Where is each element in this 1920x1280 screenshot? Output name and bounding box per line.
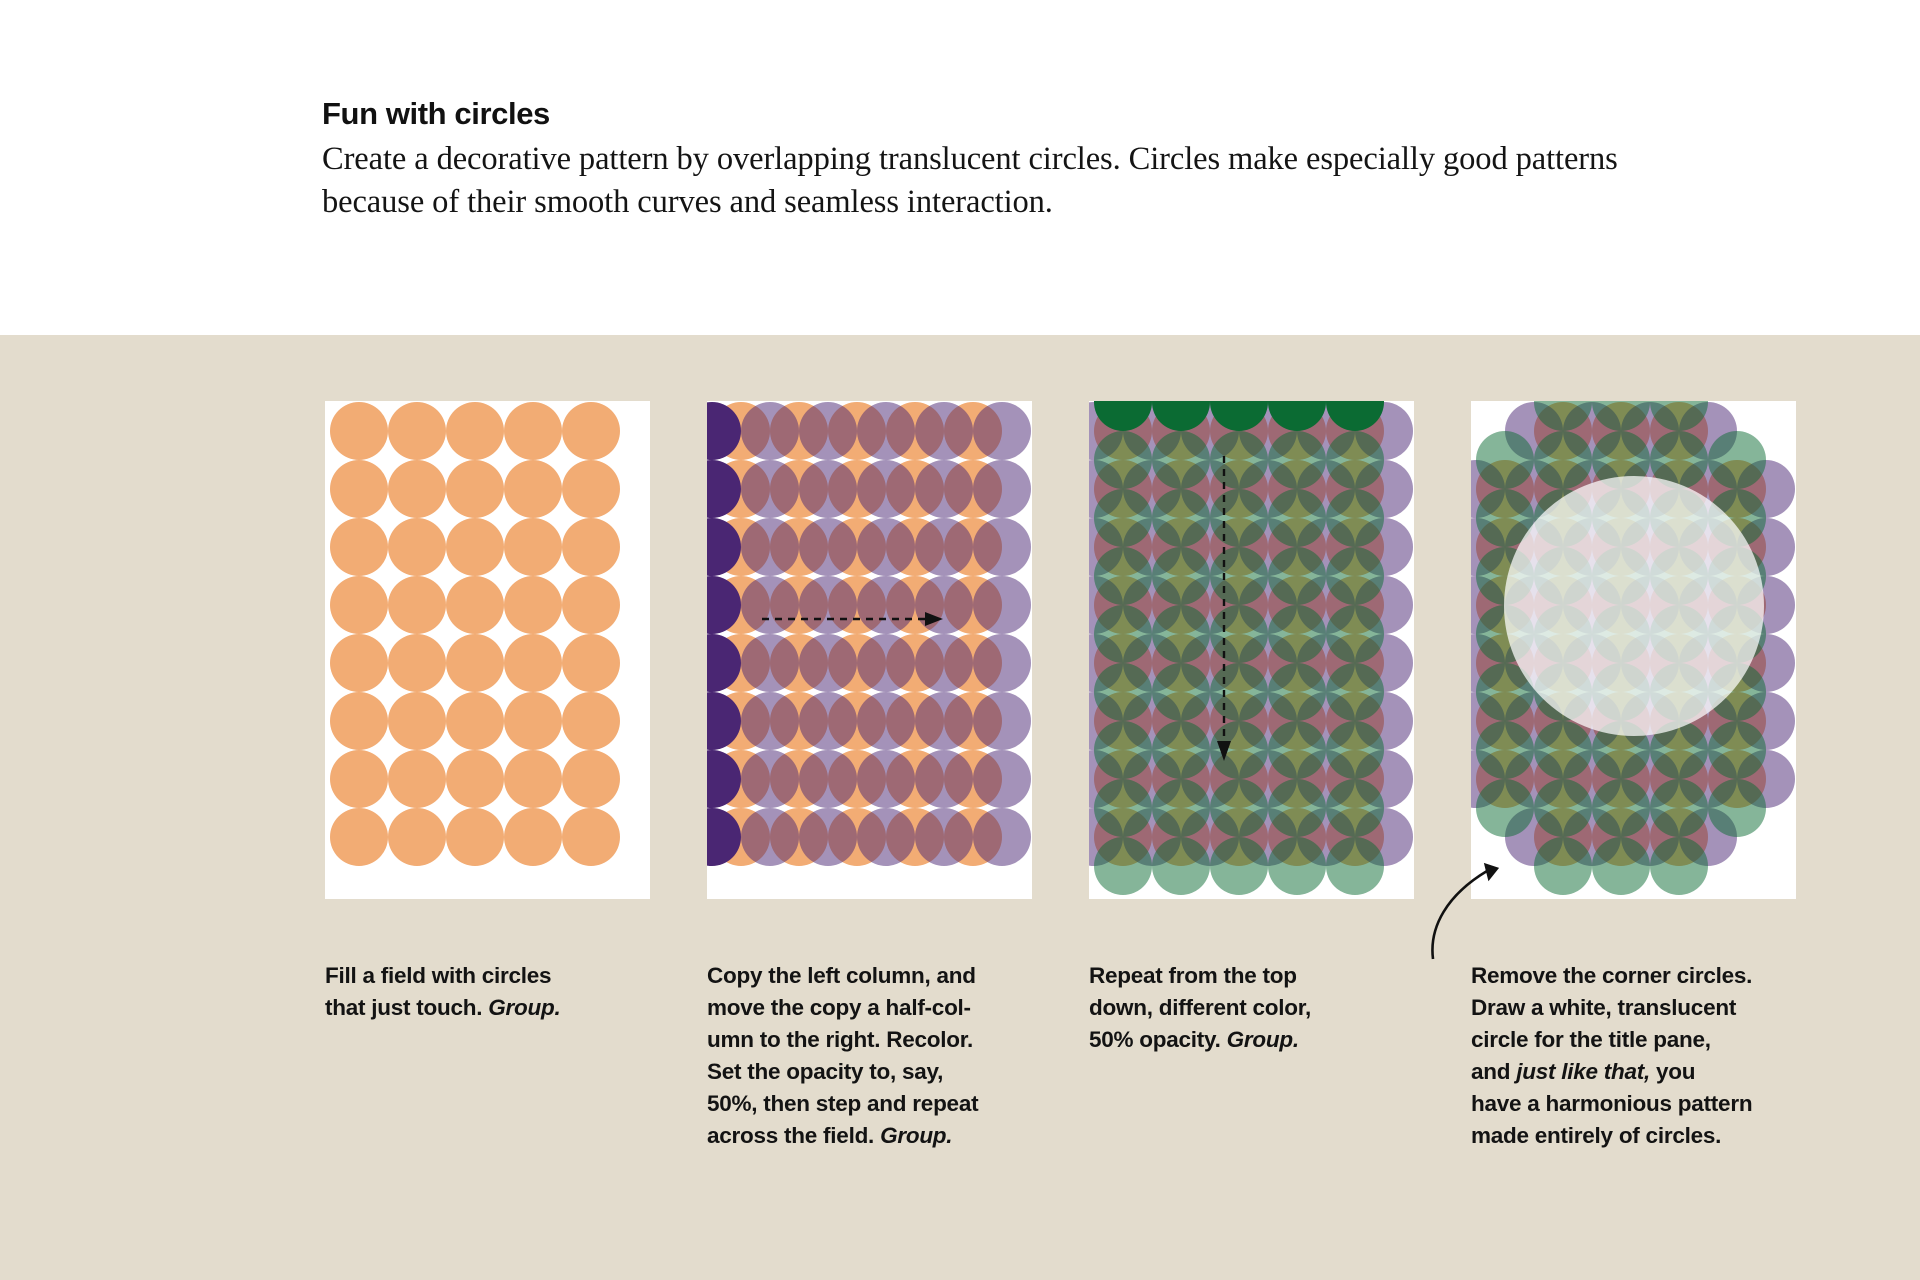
green-translucent-circle bbox=[1210, 431, 1268, 489]
green-translucent-circle bbox=[1476, 721, 1534, 779]
green-translucent-circle bbox=[1326, 779, 1384, 837]
purple-translucent-circle bbox=[973, 402, 1031, 460]
green-translucent-circle bbox=[1210, 837, 1268, 895]
orange-circle bbox=[562, 692, 620, 750]
purple-translucent-circle bbox=[857, 460, 915, 518]
green-translucent-circle bbox=[1268, 663, 1326, 721]
caption-segment: just like that, bbox=[1516, 1059, 1650, 1084]
purple-translucent-circle bbox=[915, 634, 973, 692]
green-translucent-circle bbox=[1534, 779, 1592, 837]
green-translucent-circle bbox=[1094, 721, 1152, 779]
caption-segment: down, different color, bbox=[1089, 995, 1311, 1020]
purple-translucent-circle bbox=[741, 750, 799, 808]
purple-translucent-circle bbox=[741, 692, 799, 750]
green-translucent-circle bbox=[1326, 663, 1384, 721]
caption-segment: move the copy a half-col- bbox=[707, 995, 971, 1020]
green-translucent-circle bbox=[1326, 431, 1384, 489]
caption-segment: made entirely of circles. bbox=[1471, 1123, 1721, 1148]
orange-circle bbox=[330, 634, 388, 692]
caption-segment: 50% opacity. bbox=[1089, 1027, 1227, 1052]
step-2-panel bbox=[707, 401, 1032, 899]
orange-circle bbox=[504, 402, 562, 460]
orange-circle bbox=[446, 750, 504, 808]
green-translucent-circle bbox=[1152, 605, 1210, 663]
green-translucent-circle bbox=[1152, 779, 1210, 837]
orange-circle bbox=[446, 808, 504, 866]
caption-segment: 50%, then step and repeat bbox=[707, 1091, 978, 1116]
step-4-caption: Remove the corner circles.Draw a white, … bbox=[1471, 960, 1831, 1152]
header-text-block: Fun with circles Create a decorative pat… bbox=[322, 96, 1742, 223]
purple-translucent-circle bbox=[799, 402, 857, 460]
caption-segment: Repeat from the top bbox=[1089, 963, 1297, 988]
green-translucent-circle bbox=[1152, 663, 1210, 721]
step-1-panel bbox=[325, 401, 650, 899]
caption-segment: Set the opacity to, say, bbox=[707, 1059, 943, 1084]
purple-translucent-circle bbox=[741, 576, 799, 634]
caption-segment: Group. bbox=[1227, 1027, 1299, 1052]
orange-circle bbox=[446, 634, 504, 692]
white-title-circle bbox=[1504, 476, 1764, 736]
green-translucent-circle bbox=[1326, 605, 1384, 663]
step-3-circle-grid bbox=[1089, 401, 1414, 899]
green-translucent-circle bbox=[1268, 431, 1326, 489]
orange-circle bbox=[330, 808, 388, 866]
orange-circle bbox=[446, 402, 504, 460]
purple-translucent-circle bbox=[973, 750, 1031, 808]
green-translucent-circle bbox=[1476, 431, 1534, 489]
green-translucent-circle bbox=[1268, 605, 1326, 663]
step-3-panel bbox=[1089, 401, 1414, 899]
step-1-caption: Fill a field with circlesthat just touch… bbox=[325, 960, 645, 1024]
purple-translucent-circle bbox=[741, 518, 799, 576]
purple-translucent-circle bbox=[799, 634, 857, 692]
orange-circle bbox=[388, 808, 446, 866]
green-translucent-circle bbox=[1094, 779, 1152, 837]
purple-translucent-circle bbox=[741, 402, 799, 460]
orange-circle bbox=[562, 518, 620, 576]
green-translucent-circle bbox=[1534, 721, 1592, 779]
green-translucent-circle bbox=[1268, 547, 1326, 605]
page-root: Fun with circles Create a decorative pat… bbox=[0, 0, 1920, 1280]
orange-circle bbox=[446, 518, 504, 576]
green-translucent-circle bbox=[1268, 721, 1326, 779]
green-translucent-circle bbox=[1210, 721, 1268, 779]
green-translucent-circle bbox=[1094, 837, 1152, 895]
green-translucent-circle bbox=[1592, 779, 1650, 837]
caption-segment: Remove the corner circles. bbox=[1471, 963, 1752, 988]
green-translucent-circle bbox=[1094, 605, 1152, 663]
green-translucent-circle bbox=[1152, 431, 1210, 489]
purple-translucent-circle bbox=[741, 808, 799, 866]
orange-circle bbox=[388, 692, 446, 750]
orange-circle bbox=[504, 808, 562, 866]
orange-circle bbox=[562, 576, 620, 634]
purple-translucent-circle bbox=[857, 518, 915, 576]
orange-circle bbox=[330, 576, 388, 634]
caption-segment: Fill a field with circles bbox=[325, 963, 551, 988]
caption-segment: Group. bbox=[488, 995, 560, 1020]
caption-segment: and bbox=[1471, 1059, 1516, 1084]
orange-circle bbox=[388, 518, 446, 576]
green-translucent-circle bbox=[1592, 837, 1650, 895]
purple-translucent-circle bbox=[857, 576, 915, 634]
green-translucent-circle bbox=[1476, 779, 1534, 837]
orange-circle bbox=[504, 634, 562, 692]
purple-translucent-circle bbox=[799, 750, 857, 808]
orange-circle bbox=[562, 402, 620, 460]
green-translucent-circle bbox=[1268, 779, 1326, 837]
orange-circle bbox=[388, 576, 446, 634]
green-translucent-circle bbox=[1152, 837, 1210, 895]
green-translucent-circle bbox=[1094, 489, 1152, 547]
caption-segment: that just touch. bbox=[325, 995, 488, 1020]
purple-translucent-circle bbox=[799, 460, 857, 518]
step-3-figure bbox=[1089, 401, 1414, 899]
green-translucent-circle bbox=[1650, 779, 1708, 837]
step-4-circle-grid bbox=[1471, 401, 1796, 899]
purple-translucent-circle bbox=[973, 692, 1031, 750]
purple-translucent-circle bbox=[857, 634, 915, 692]
orange-circle bbox=[504, 576, 562, 634]
green-translucent-circle bbox=[1152, 547, 1210, 605]
orange-circle bbox=[446, 692, 504, 750]
caption-segment: umn to the right. Recolor. bbox=[707, 1027, 973, 1052]
purple-translucent-circle bbox=[857, 750, 915, 808]
purple-translucent-circle bbox=[915, 460, 973, 518]
step-2-figure bbox=[707, 401, 1032, 899]
orange-circle bbox=[388, 634, 446, 692]
green-translucent-circle bbox=[1268, 489, 1326, 547]
purple-translucent-circle bbox=[857, 692, 915, 750]
orange-circle bbox=[504, 750, 562, 808]
purple-translucent-circle bbox=[973, 460, 1031, 518]
step-1-circle-grid bbox=[325, 401, 650, 899]
green-translucent-circle bbox=[1326, 489, 1384, 547]
purple-translucent-circle bbox=[915, 402, 973, 460]
green-translucent-circle bbox=[1094, 663, 1152, 721]
orange-circle bbox=[446, 576, 504, 634]
purple-translucent-circle bbox=[915, 692, 973, 750]
purple-translucent-circle bbox=[915, 750, 973, 808]
purple-translucent-circle bbox=[973, 518, 1031, 576]
step-2-caption: Copy the left column, andmove the copy a… bbox=[707, 960, 1052, 1152]
orange-circle bbox=[562, 634, 620, 692]
orange-circle bbox=[330, 460, 388, 518]
green-translucent-circle bbox=[1534, 431, 1592, 489]
orange-circle bbox=[446, 460, 504, 518]
step-4-figure bbox=[1471, 401, 1796, 899]
purple-translucent-circle bbox=[857, 808, 915, 866]
purple-translucent-circle bbox=[915, 808, 973, 866]
orange-circle bbox=[330, 518, 388, 576]
orange-circle bbox=[562, 808, 620, 866]
caption-segment: you bbox=[1650, 1059, 1695, 1084]
green-translucent-circle bbox=[1152, 489, 1210, 547]
caption-segment: Group. bbox=[880, 1123, 952, 1148]
green-translucent-circle bbox=[1210, 605, 1268, 663]
header-band: Fun with circles Create a decorative pat… bbox=[0, 0, 1920, 335]
step-4-panel bbox=[1471, 401, 1796, 899]
caption-segment: circle for the title pane, bbox=[1471, 1027, 1711, 1052]
caption-segment: have a harmonious pattern bbox=[1471, 1091, 1752, 1116]
green-translucent-circle bbox=[1210, 547, 1268, 605]
green-translucent-circle bbox=[1534, 837, 1592, 895]
green-translucent-circle bbox=[1094, 547, 1152, 605]
green-translucent-circle bbox=[1326, 721, 1384, 779]
page-title: Fun with circles bbox=[322, 96, 1742, 132]
purple-translucent-circle bbox=[973, 634, 1031, 692]
green-translucent-circle bbox=[1326, 547, 1384, 605]
orange-circle bbox=[330, 750, 388, 808]
orange-circle bbox=[330, 692, 388, 750]
orange-circle bbox=[504, 518, 562, 576]
purple-translucent-circle bbox=[799, 692, 857, 750]
purple-translucent-circle bbox=[973, 576, 1031, 634]
green-translucent-circle bbox=[1708, 721, 1766, 779]
green-translucent-circle bbox=[1210, 489, 1268, 547]
green-translucent-circle bbox=[1650, 837, 1708, 895]
purple-translucent-circle bbox=[741, 460, 799, 518]
caption-segment: Copy the left column, and bbox=[707, 963, 976, 988]
purple-translucent-circle bbox=[799, 576, 857, 634]
purple-translucent-circle bbox=[973, 808, 1031, 866]
step-1-figure bbox=[325, 401, 650, 899]
step-2-circle-grid bbox=[707, 401, 1032, 899]
orange-circle bbox=[388, 750, 446, 808]
purple-translucent-circle bbox=[857, 402, 915, 460]
green-translucent-circle bbox=[1210, 779, 1268, 837]
green-translucent-circle bbox=[1152, 721, 1210, 779]
purple-translucent-circle bbox=[915, 518, 973, 576]
orange-circle bbox=[504, 460, 562, 518]
orange-circle bbox=[388, 402, 446, 460]
green-translucent-circle bbox=[1708, 431, 1766, 489]
green-translucent-circle bbox=[1094, 431, 1152, 489]
page-intro-paragraph: Create a decorative pattern by overlappi… bbox=[322, 138, 1722, 224]
orange-circle bbox=[562, 460, 620, 518]
purple-translucent-circle bbox=[799, 518, 857, 576]
caption-segment: Draw a white, translucent bbox=[1471, 995, 1736, 1020]
orange-circle bbox=[388, 460, 446, 518]
green-translucent-circle bbox=[1210, 663, 1268, 721]
orange-circle bbox=[562, 750, 620, 808]
purple-translucent-circle bbox=[915, 576, 973, 634]
purple-translucent-circle bbox=[741, 634, 799, 692]
green-translucent-circle bbox=[1708, 779, 1766, 837]
orange-circle bbox=[504, 692, 562, 750]
caption-segment: across the field. bbox=[707, 1123, 880, 1148]
purple-translucent-circle bbox=[799, 808, 857, 866]
orange-circle bbox=[330, 402, 388, 460]
green-translucent-circle bbox=[1326, 837, 1384, 895]
green-translucent-circle bbox=[1268, 837, 1326, 895]
step-3-caption: Repeat from the topdown, different color… bbox=[1089, 960, 1419, 1056]
